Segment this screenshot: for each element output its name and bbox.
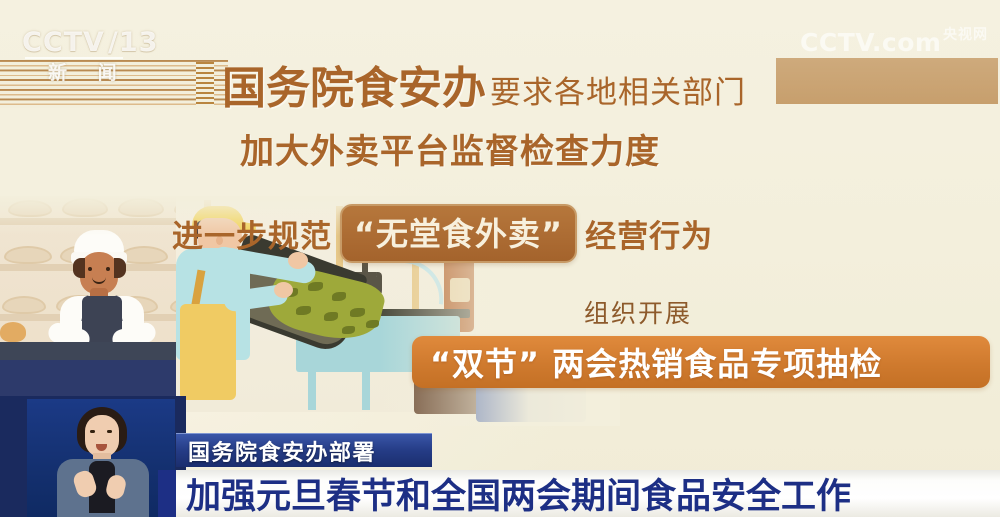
- site-watermark: CCTV.com 央视网: [800, 24, 990, 60]
- channel-logo: CCTV/13: [22, 26, 172, 60]
- graphic-orange-banner: “双节” 两会热销食品专项抽检: [412, 336, 990, 388]
- graphic-line-1: 国务院食安办 要求各地相关部门: [222, 52, 746, 116]
- watermark-cn-label: 央视网: [943, 24, 988, 44]
- graphic-line-3: 进一步规范 “无堂食外卖” 经营行为: [172, 204, 713, 263]
- chyron-accent-tab: [158, 470, 178, 517]
- graphic-highlight-box: “无堂食外卖”: [340, 204, 577, 263]
- graphic-line-1-strong: 国务院食安办: [222, 52, 486, 116]
- graphic-banner-text: “双节” 两会热销食品专项抽检: [430, 339, 882, 385]
- watermark-domain: CCTV.com: [800, 28, 941, 57]
- broadcast-screenshot: CCTV/13 新 闻 CCTV.com 央视网 国务院食安办 要求各地相关部门…: [0, 0, 1000, 517]
- graphic-highlight-text: “无堂食外卖”: [354, 215, 563, 253]
- graphic-line-4: 组织开展: [584, 294, 692, 330]
- channel-name-label: 新 闻: [48, 58, 129, 85]
- graphic-line-3-prefix: 进一步规范: [172, 211, 332, 256]
- chyron-topic-text: 国务院食安办部署: [188, 435, 376, 467]
- chyron-headline-text: 加强元旦春节和全国两会期间食品安全工作: [186, 468, 851, 517]
- graphic-line-1-weak: 要求各地相关部门: [490, 67, 746, 112]
- chyron-topic-bar: 国务院食安办部署: [176, 433, 432, 467]
- decorative-stripes-accent: [196, 62, 214, 106]
- sign-language-interpreter-video: [27, 399, 175, 517]
- graphic-line-2: 加大外卖平台监督检查力度: [240, 124, 660, 173]
- graphic-line-3-suffix: 经营行为: [585, 211, 713, 256]
- channel-logo-text: CCTV: [22, 27, 105, 58]
- chyron-headline-bar: 加强元旦春节和全国两会期间食品安全工作: [176, 470, 1000, 517]
- channel-logo-number: /13: [105, 26, 158, 60]
- tan-accent-block: [776, 58, 998, 104]
